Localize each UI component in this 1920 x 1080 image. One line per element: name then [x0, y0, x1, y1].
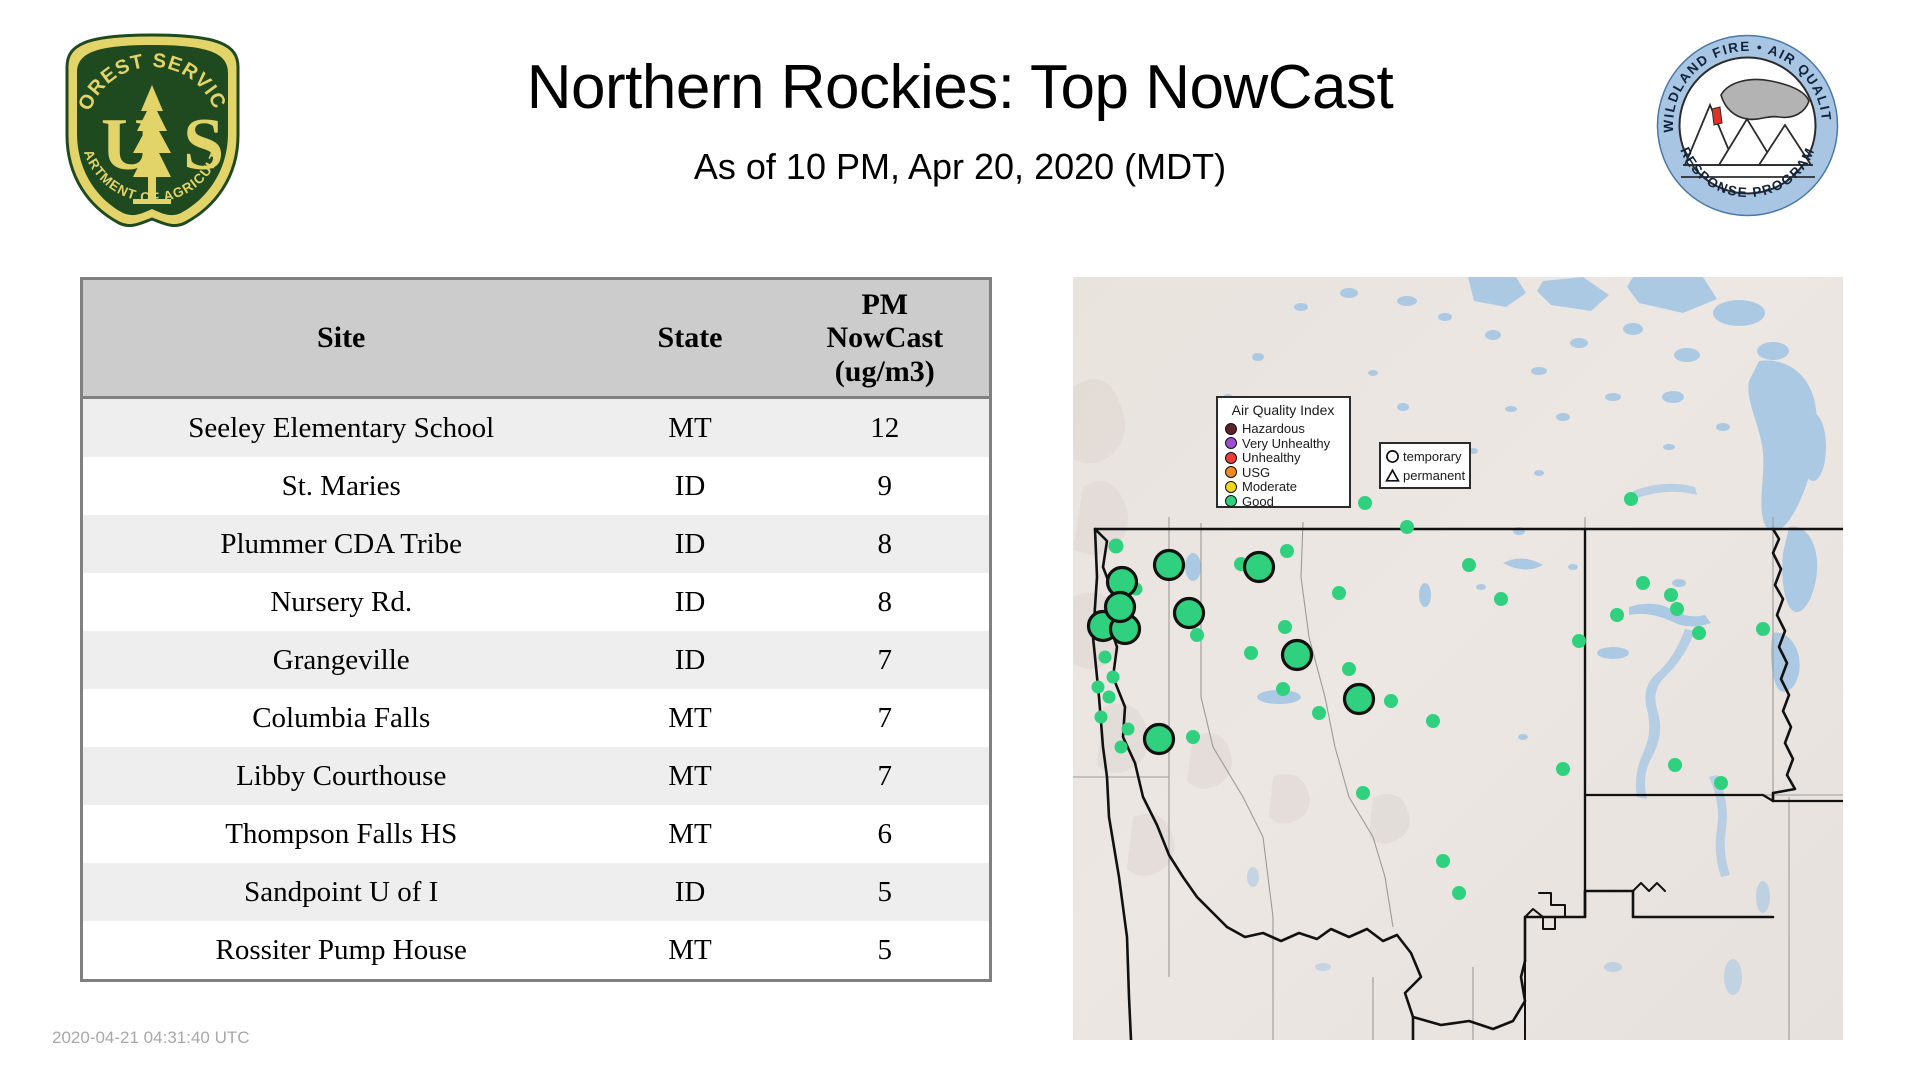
page-subtitle: As of 10 PM, Apr 20, 2020 (MDT): [300, 146, 1620, 188]
monitor-site-small[interactable]: [1358, 496, 1372, 510]
aqi-legend-items: HazardousVery UnhealthyUnhealthyUSGModer…: [1225, 421, 1341, 508]
page-title: Northern Rockies: Top NowCast: [300, 55, 1620, 120]
aqi-legend-item-label: Good: [1242, 495, 1274, 508]
monitor-site-small[interactable]: [1714, 776, 1728, 790]
aqi-legend-title: Air Quality Index: [1225, 403, 1341, 418]
cell-site: Libby Courthouse: [83, 747, 599, 805]
monitor-site-small[interactable]: [1756, 622, 1770, 636]
cell-site: Grangeville: [83, 631, 599, 689]
site-type-temporary-label: temporary: [1403, 450, 1462, 463]
aqi-legend: Air Quality Index HazardousVery Unhealth…: [1216, 396, 1351, 508]
monitor-site-small[interactable]: [1624, 492, 1638, 506]
table-row: GrangevilleID7: [83, 631, 989, 689]
monitor-site-small[interactable]: [1556, 762, 1570, 776]
temporary-circle-icon: [1385, 449, 1400, 464]
column-header-state-label: State: [658, 321, 723, 354]
cell-pm-nowcast: 8: [781, 573, 989, 631]
monitor-site-small[interactable]: [1115, 741, 1128, 754]
table-header: Site State PM NowCast (ug/m3): [83, 280, 989, 398]
monitor-site-small[interactable]: [1664, 588, 1678, 602]
permanent-triangle-icon: [1385, 468, 1400, 483]
aqi-swatch-icon: [1225, 423, 1237, 435]
site-type-legend: temporary permanent: [1379, 442, 1471, 489]
site-type-permanent: permanent: [1385, 466, 1465, 485]
cell-site: Nursery Rd.: [83, 573, 599, 631]
monitor-site-top[interactable]: [1155, 551, 1184, 580]
monitor-site-small[interactable]: [1384, 694, 1398, 708]
monitor-site-small[interactable]: [1122, 723, 1135, 736]
cell-pm-nowcast: 5: [781, 863, 989, 921]
aqi-legend-item-label: Very Unhealthy: [1242, 437, 1330, 450]
column-header-site-label: Site: [317, 321, 365, 354]
monitor-site-top[interactable]: [1245, 553, 1274, 582]
cell-pm-nowcast: 7: [781, 689, 989, 747]
monitor-site-small[interactable]: [1109, 539, 1124, 554]
aqi-swatch-icon: [1225, 481, 1237, 493]
monitor-site-small[interactable]: [1356, 786, 1370, 800]
monitor-site-small[interactable]: [1244, 646, 1258, 660]
cell-state: ID: [599, 457, 780, 515]
map-canvas[interactable]: [1073, 277, 1843, 1040]
aqi-legend-item-label: USG: [1242, 466, 1270, 479]
monitor-site-small[interactable]: [1190, 628, 1204, 642]
monitor-site-top[interactable]: [1283, 641, 1312, 670]
monitor-site-small[interactable]: [1278, 620, 1292, 634]
column-header-site: Site: [83, 280, 599, 398]
monitor-site-small[interactable]: [1280, 544, 1294, 558]
monitor-site-small[interactable]: [1426, 714, 1440, 728]
column-header-pm-line3: (ug/m3): [781, 355, 989, 389]
aqi-legend-item: Moderate: [1225, 479, 1341, 494]
cell-site: St. Maries: [83, 457, 599, 515]
footer-timestamp: 2020-04-21 04:31:40 UTC: [52, 1028, 250, 1048]
aqi-legend-item: Good: [1225, 494, 1341, 509]
monitor-site-small[interactable]: [1462, 558, 1476, 572]
cell-pm-nowcast: 12: [781, 398, 989, 458]
top-nowcast-table: Site State PM NowCast (ug/m3) Seeley Ele…: [83, 280, 989, 979]
cell-state: ID: [599, 863, 780, 921]
site-type-permanent-label: permanent: [1403, 469, 1465, 482]
monitor-site-small[interactable]: [1103, 691, 1116, 704]
table-row: St. MariesID9: [83, 457, 989, 515]
monitor-site-small[interactable]: [1610, 608, 1624, 622]
cell-state: MT: [599, 921, 780, 979]
monitor-site-small[interactable]: [1095, 711, 1108, 724]
monitor-site-small[interactable]: [1276, 682, 1290, 696]
cell-site: Thompson Falls HS: [83, 805, 599, 863]
aqi-swatch-icon: [1225, 437, 1237, 449]
monitor-site-small[interactable]: [1494, 592, 1508, 606]
cell-pm-nowcast: 8: [781, 515, 989, 573]
monitor-site-small[interactable]: [1312, 706, 1326, 720]
aqi-legend-item-label: Hazardous: [1242, 422, 1305, 435]
cell-site: Plummer CDA Tribe: [83, 515, 599, 573]
monitor-site-top[interactable]: [1145, 725, 1174, 754]
cell-site: Rossiter Pump House: [83, 921, 599, 979]
cell-pm-nowcast: 9: [781, 457, 989, 515]
top-nowcast-table-panel: Site State PM NowCast (ug/m3) Seeley Ele…: [80, 277, 992, 982]
aqi-swatch-icon: [1225, 452, 1237, 464]
table-row: Plummer CDA TribeID8: [83, 515, 989, 573]
monitor-site-small[interactable]: [1107, 671, 1120, 684]
table-row: Sandpoint U of IID5: [83, 863, 989, 921]
cell-state: ID: [599, 631, 780, 689]
table-row: Libby CourthouseMT7: [83, 747, 989, 805]
monitor-site-top[interactable]: [1345, 685, 1374, 714]
monitor-site-small[interactable]: [1342, 662, 1356, 676]
column-header-pm-line2: NowCast: [781, 321, 989, 355]
usda-forest-service-shield-logo: FOREST SERVICE U S DEPARTMENT OF AGRICUL…: [55, 27, 250, 232]
cell-site: Columbia Falls: [83, 689, 599, 747]
aqi-legend-item: Very Unhealthy: [1225, 436, 1341, 451]
cell-state: MT: [599, 805, 780, 863]
air-quality-monitor-map[interactable]: [1073, 277, 1843, 1040]
column-header-state: State: [599, 280, 780, 398]
aqi-swatch-icon: [1225, 495, 1237, 507]
cell-pm-nowcast: 7: [781, 747, 989, 805]
monitor-site-small[interactable]: [1636, 576, 1650, 590]
table-row: Thompson Falls HSMT6: [83, 805, 989, 863]
cell-pm-nowcast: 6: [781, 805, 989, 863]
aqi-legend-item-label: Unhealthy: [1242, 451, 1301, 464]
table-row: Columbia FallsMT7: [83, 689, 989, 747]
aqi-swatch-icon: [1225, 466, 1237, 478]
aqi-legend-item: Unhealthy: [1225, 450, 1341, 465]
aqi-legend-item: USG: [1225, 465, 1341, 480]
title-block: Northern Rockies: Top NowCast As of 10 P…: [300, 55, 1620, 188]
cell-state: MT: [599, 689, 780, 747]
cell-state: MT: [599, 398, 780, 458]
monitor-site-small[interactable]: [1400, 520, 1414, 534]
page-header: FOREST SERVICE U S DEPARTMENT OF AGRICUL…: [0, 0, 1920, 270]
cell-site: Seeley Elementary School: [83, 398, 599, 458]
table-row: Nursery Rd.ID8: [83, 573, 989, 631]
monitor-site-top[interactable]: [1106, 593, 1135, 622]
aqi-legend-item: Hazardous: [1225, 421, 1341, 436]
monitor-site-small[interactable]: [1092, 681, 1105, 694]
monitor-site-small[interactable]: [1186, 730, 1200, 744]
cell-site: Sandpoint U of I: [83, 863, 599, 921]
cell-pm-nowcast: 5: [781, 921, 989, 979]
cell-state: ID: [599, 515, 780, 573]
monitor-site-small[interactable]: [1099, 651, 1112, 664]
table-row: Seeley Elementary SchoolMT12: [83, 398, 989, 458]
cell-state: MT: [599, 747, 780, 805]
monitor-site-small[interactable]: [1572, 634, 1586, 648]
table-body: Seeley Elementary SchoolMT12St. MariesID…: [83, 398, 989, 980]
aqi-legend-item-label: Moderate: [1242, 480, 1297, 493]
cell-pm-nowcast: 7: [781, 631, 989, 689]
column-header-pm-line1: PM: [781, 288, 989, 322]
monitor-site-small[interactable]: [1436, 854, 1450, 868]
monitor-site-small[interactable]: [1332, 586, 1346, 600]
monitor-site-small[interactable]: [1670, 602, 1684, 616]
table-header-row: Site State PM NowCast (ug/m3): [83, 280, 989, 398]
monitor-site-small[interactable]: [1692, 626, 1706, 640]
column-header-pm-nowcast: PM NowCast (ug/m3): [781, 280, 989, 398]
table-row: Rossiter Pump HouseMT5: [83, 921, 989, 979]
monitor-site-top[interactable]: [1175, 599, 1204, 628]
map-background: [1073, 277, 1843, 1040]
site-type-temporary: temporary: [1385, 447, 1465, 466]
wfaqrp-logo: WILDLAND FIRE • AIR QUALITY RESPONSE PRO…: [1655, 33, 1840, 218]
monitor-site-small[interactable]: [1668, 758, 1682, 772]
cell-state: ID: [599, 573, 780, 631]
monitor-site-small[interactable]: [1452, 886, 1466, 900]
